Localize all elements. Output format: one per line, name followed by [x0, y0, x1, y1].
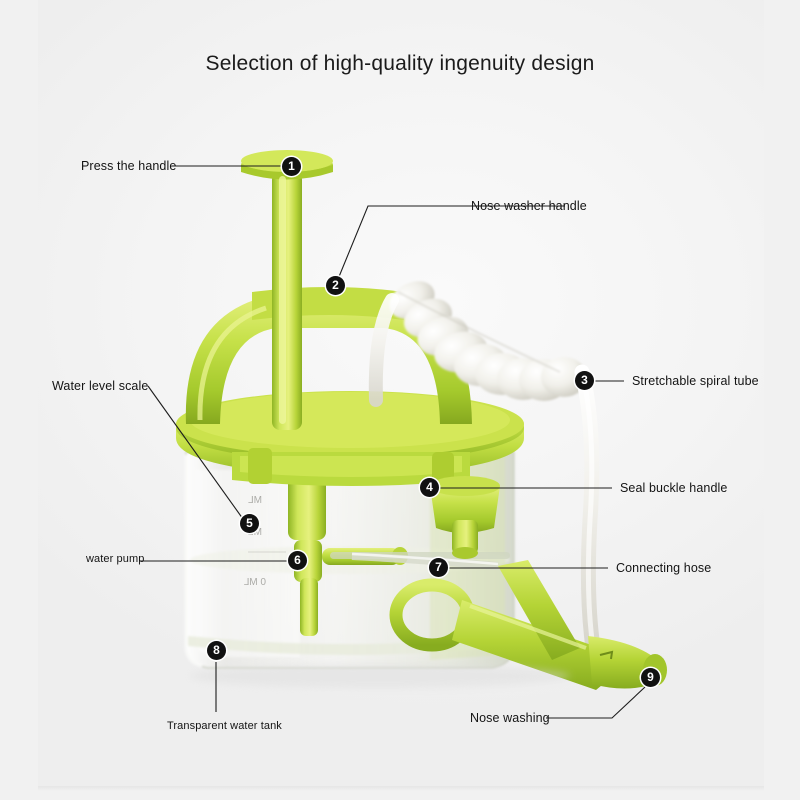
- svg-text:0 ML: 0 ML: [243, 577, 266, 588]
- badge-1[interactable]: 1: [282, 157, 301, 176]
- badge-6[interactable]: 6: [288, 551, 307, 570]
- callout-label-stretchable-spiral-tube: Stretchable spiral tube: [632, 374, 759, 388]
- badge-8[interactable]: 8: [207, 641, 226, 660]
- callout-label-connecting-hose: Connecting hose: [616, 561, 711, 575]
- callout-label-press-the-handle: Press the handle: [81, 159, 176, 173]
- callout-label-nose-washing: Nose washing: [470, 711, 550, 725]
- callout-label-transparent-water-tank: Transparent water tank: [167, 720, 282, 732]
- badge-5[interactable]: 5: [240, 514, 259, 533]
- badge-9[interactable]: 9: [641, 668, 660, 687]
- badge-4[interactable]: 4: [420, 478, 439, 497]
- product-illustration: ML ML 0 ML: [0, 0, 800, 800]
- badge-3[interactable]: 3: [575, 371, 594, 390]
- callout-label-water-level-scale: Water level scale: [52, 379, 148, 393]
- svg-text:ML: ML: [248, 495, 262, 506]
- callout-label-water-pump: water pump: [86, 553, 144, 565]
- product-diagram-page: Selection of high-quality ingenuity desi…: [0, 0, 800, 800]
- badge-2[interactable]: 2: [326, 276, 345, 295]
- badge-7[interactable]: 7: [429, 558, 448, 577]
- callout-label-nose-washer-handle: Nose washer handle: [471, 199, 587, 213]
- callout-label-seal-buckle-handle: Seal buckle handle: [620, 481, 727, 495]
